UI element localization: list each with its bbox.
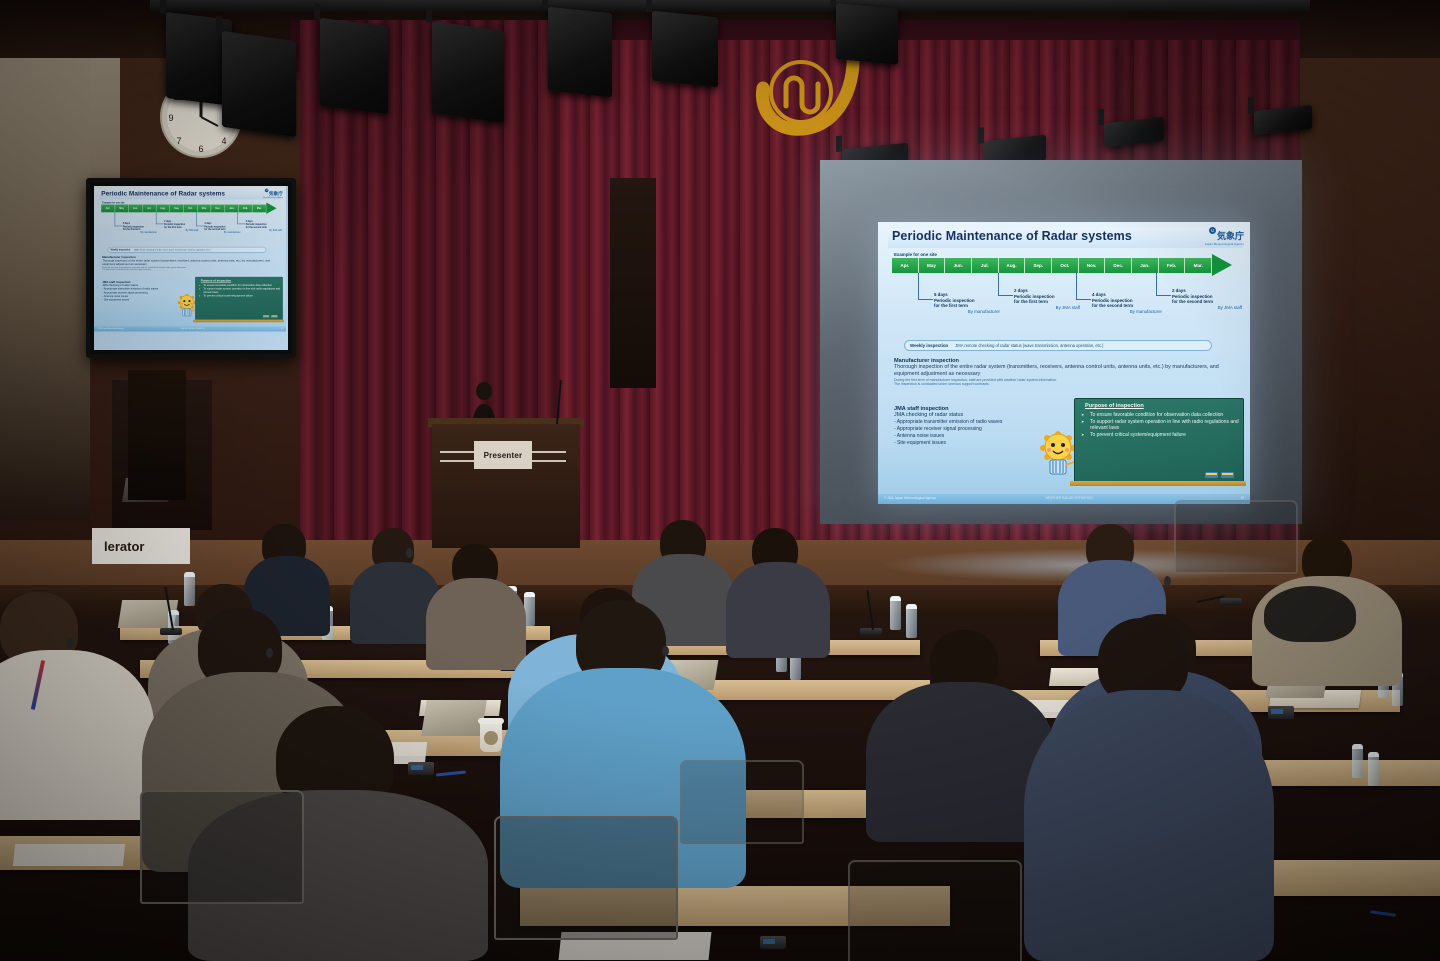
callout-by: By JMA staff <box>1014 305 1080 311</box>
chair <box>494 816 678 940</box>
month-timeline: Apr. May Jun. Jul. Aug. Sep. Oct. Nov. D… <box>101 205 266 213</box>
svg-text:9: 9 <box>168 113 173 123</box>
timeline-month: Sep. <box>1025 258 1052 273</box>
purpose-item: To support radar system operation in lin… <box>199 288 281 295</box>
callout-by: By manufacturer <box>934 309 1000 315</box>
timeline-month: Sep. <box>170 205 184 213</box>
manufacturer-note-2: The inspection is conducted under onerou… <box>894 382 1234 387</box>
timeline-month: May <box>115 205 129 213</box>
operator-sign: lerator <box>92 528 190 564</box>
callout-line1: Periodic inspection <box>1092 298 1133 303</box>
interpretation-earpiece <box>1164 576 1171 586</box>
purpose-board: Purpose of inspection To ensure favorabl… <box>1074 398 1244 484</box>
callout-duration: 5 days <box>934 292 948 297</box>
timeline-month: Oct. <box>184 205 198 213</box>
callout-by: By manufacturer <box>204 231 240 234</box>
callout-line2: for the first term <box>164 226 182 229</box>
timeline-month: Mar. <box>253 205 267 213</box>
manufacturer-block: Manufacturer inspection Thorough inspect… <box>894 358 1234 387</box>
timeline-month: Oct. <box>1052 258 1079 273</box>
callout-leader <box>918 273 933 300</box>
jma-logo-kanji: 気象庁 <box>1217 231 1244 241</box>
interpretation-earpiece <box>406 548 413 558</box>
attendee-body <box>426 578 526 670</box>
timeline-month: Jun. <box>129 205 143 213</box>
interpretation-receiver <box>1268 706 1294 719</box>
timeline-month: Apr. <box>892 258 919 273</box>
podium-sign: Presenter <box>474 441 532 469</box>
sun-mascot-icon <box>177 292 198 319</box>
slide-canvas: Periodic Maintenance of Radar systems U気… <box>878 222 1250 504</box>
microphone-base <box>1220 598 1242 605</box>
jma-logo-english: Japan Meteorological Agency <box>1205 243 1244 246</box>
interpretation-earpiece <box>66 638 73 648</box>
slide-footer: © JMA Japan Meteorological Agency WEATHE… <box>94 326 286 331</box>
weekly-inspection-text: JMA remote checking of radar status (wav… <box>955 343 1103 348</box>
callout-line2: for the second term <box>204 228 225 231</box>
footer-copyright: © JMA Japan Meteorological Agency <box>884 496 936 500</box>
wall-monitor: Periodic Maintenance of Radar systems U気… <box>86 178 296 358</box>
weekly-inspection-banner: Weekly inspection JMA remote checking of… <box>904 340 1212 351</box>
callout-2: 2 days Periodic inspection for the first… <box>1014 288 1080 311</box>
timeline-month: Feb. <box>1159 258 1186 273</box>
chair <box>848 860 1022 961</box>
callout-duration: 4 days <box>1092 292 1106 297</box>
callout-line2: for the first term <box>123 228 141 231</box>
purpose-board: Purpose of inspection To ensure favorabl… <box>195 277 283 321</box>
chair <box>1174 500 1298 574</box>
stage-side-panel <box>610 178 656 388</box>
stage-light <box>432 21 504 123</box>
lighting-truss <box>150 0 1310 14</box>
purpose-board-ledge <box>1070 481 1246 486</box>
weekly-inspection-banner: Weekly inspection JMA remote checking of… <box>107 247 266 253</box>
callout-line2: for the first term <box>934 303 968 308</box>
jma-circle-mark-icon: U <box>265 189 269 193</box>
callout-line1: Periodic inspection <box>1014 294 1055 299</box>
purpose-heading: Purpose of inspection <box>201 279 231 282</box>
water-bottle <box>890 596 901 630</box>
interpretation-earpiece <box>662 646 669 656</box>
books-icon <box>263 314 278 319</box>
stage-light <box>836 3 898 64</box>
callout-by: By manufacturer <box>123 231 157 234</box>
month-timeline: Apr. May Jun. Jul. Aug. Sep. Oct. Nov. D… <box>892 258 1212 273</box>
coffee-cup <box>480 722 502 752</box>
side-door <box>128 370 186 500</box>
timeline-month: Nov. <box>198 205 212 213</box>
manufacturer-block: Manufacturer inspection Thorough inspect… <box>102 256 277 271</box>
weekly-inspection-label: Weekly inspection <box>111 248 131 251</box>
footer-copyright: © JMA Japan Meteorological Agency <box>97 327 124 329</box>
callout-3: 4 days Periodic inspection for the secon… <box>1092 292 1162 315</box>
manufacturer-body: Thorough inspection of the entire radar … <box>894 364 1234 378</box>
callout-by: By JMA staff <box>164 229 198 232</box>
purpose-item: To support radar system operation in lin… <box>1081 419 1239 432</box>
interpretation-receiver <box>760 936 786 949</box>
jma-circle-mark-icon: U <box>1209 227 1216 234</box>
callout-1: 5 days Periodic inspection for the first… <box>123 222 157 234</box>
svg-text:4: 4 <box>221 136 226 146</box>
jma-logo-english: Japan Meteorological Agency <box>263 197 283 198</box>
svg-text:7: 7 <box>176 136 181 146</box>
timeline-month: Mar. <box>1185 258 1212 273</box>
slide-title: Periodic Maintenance of Radar systems <box>101 190 225 197</box>
callout-2: 2 days Periodic inspection for the first… <box>164 220 198 232</box>
paper-sheet <box>13 844 125 866</box>
svg-text:6: 6 <box>198 144 203 154</box>
jma-logo-kanji: 気象庁 <box>269 191 283 196</box>
chair <box>680 760 804 844</box>
sun-mascot-icon <box>1038 428 1078 480</box>
footer-course: WEATHER RADAR OPERATION <box>180 327 204 329</box>
coffee-cup-logo-icon <box>484 731 498 745</box>
callout-by: By manufacturer <box>1092 309 1162 315</box>
purpose-item: To prevent critical system/equipment fai… <box>199 294 281 297</box>
water-bottle <box>1352 744 1363 778</box>
callout-line2: for the second term <box>246 226 267 229</box>
purpose-item: To ensure favorable condition for observ… <box>1081 412 1239 418</box>
jma-logo: U気象庁 Japan Meteorological Agency <box>1205 227 1244 246</box>
timeline-month: Feb. <box>239 205 253 213</box>
timeline-month: Jul. <box>143 205 157 213</box>
timeline-month: Nov. <box>1079 258 1106 273</box>
podium-stripe <box>530 451 566 453</box>
timeline-month: Aug. <box>999 258 1026 273</box>
jma-staff-item: - Appropriate transmitter emission of ra… <box>894 419 1074 426</box>
timeline-month: Jun. <box>945 258 972 273</box>
stage-light <box>320 18 388 114</box>
chair <box>140 790 304 904</box>
attendee-body <box>0 650 154 820</box>
callout-line2: for the first term <box>1014 299 1048 304</box>
callout-duration: 2 days <box>1014 288 1028 293</box>
podium-stripe <box>530 460 566 462</box>
manufacturer-note-2: The inspection is conducted under onerou… <box>102 269 277 271</box>
books-icon <box>1205 470 1235 479</box>
timeline-month: Jul. <box>972 258 999 273</box>
weekly-inspection-label: Weekly inspection <box>910 343 948 348</box>
water-bottle <box>906 604 917 638</box>
projected-slide: Periodic Maintenance of Radar systems U気… <box>878 222 1250 504</box>
example-label: Example for one site <box>894 252 937 257</box>
callout-line2: for the second term <box>1092 303 1133 308</box>
timeline-month: Apr. <box>101 205 115 213</box>
purpose-list: To ensure favorable condition for observ… <box>199 284 281 298</box>
stage-light <box>548 7 612 98</box>
interpretation-earpiece <box>266 648 273 658</box>
attendee-body <box>726 562 830 658</box>
callout-leader <box>115 212 123 226</box>
podium-stripe <box>440 460 476 462</box>
callout-1: 5 days Periodic inspection for the first… <box>934 292 1000 315</box>
callout-leader <box>156 212 164 224</box>
callout-3: 4 days Periodic inspection for the secon… <box>204 222 240 234</box>
manufacturer-body: Thorough inspection of the entire radar … <box>102 259 277 266</box>
callout-4: 2 days Periodic inspection for the secon… <box>246 220 282 232</box>
timeline-arrow-icon <box>266 203 276 214</box>
jma-logo: U気象庁 Japan Meteorological Agency <box>263 189 283 199</box>
timeline-arrow-icon <box>1212 254 1232 276</box>
callout-line1: Periodic inspection <box>934 298 975 303</box>
stage-light <box>222 31 296 137</box>
callout-duration: 2 days <box>1172 288 1186 293</box>
footer-page-number: 19 <box>281 327 283 329</box>
timeline-month: Dec. <box>211 205 225 213</box>
conference-room-scene: 1213 467 911 Periodic Maintenance of Rad… <box>0 0 1440 961</box>
timeline-month: Jan. <box>225 205 239 213</box>
callout-4: 2 days Periodic inspection for the secon… <box>1172 288 1242 311</box>
purpose-heading: Purpose of inspection <box>1085 403 1144 409</box>
purpose-list: To ensure favorable condition for observ… <box>1081 412 1239 439</box>
water-bottle <box>1368 752 1379 786</box>
timeline-month: May <box>919 258 946 273</box>
laptop <box>421 700 487 736</box>
purpose-item: To prevent critical system/equipment fai… <box>1081 432 1239 438</box>
callout-leader <box>998 273 1013 296</box>
timeline-month: Aug. <box>156 205 170 213</box>
wall-monitor-screen: Periodic Maintenance of Radar systems U気… <box>94 186 288 350</box>
stage-light <box>652 11 718 88</box>
timeline-month: Jan. <box>1132 258 1159 273</box>
callout-line1: Periodic inspection <box>1172 294 1213 299</box>
slide-title: Periodic Maintenance of Radar systems <box>892 229 1132 243</box>
interpretation-receiver <box>408 762 434 775</box>
attendee-body <box>1024 690 1274 961</box>
left-wall-panel <box>0 0 90 520</box>
purpose-board-ledge <box>193 320 284 323</box>
podium-stripe <box>440 451 476 453</box>
callout-by: By JMA staff <box>246 229 282 232</box>
callout-by: By JMA staff <box>1172 305 1242 311</box>
attendee-hood <box>1264 586 1356 642</box>
jma-staff-subheading: JMA checking of radar status <box>894 412 1074 419</box>
weekly-inspection-text: JMA remote checking of radar status (wav… <box>134 248 210 251</box>
timeline-month: Dec. <box>1105 258 1132 273</box>
footer-course: WEATHER RADAR OPERATION <box>1045 496 1092 500</box>
callout-line2: for the second term <box>1172 299 1213 304</box>
water-bottle <box>184 572 195 606</box>
